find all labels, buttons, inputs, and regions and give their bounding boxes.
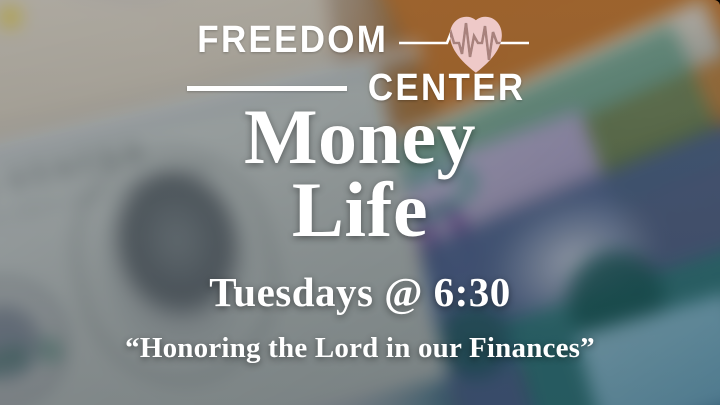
meeting-time-subtitle: Tuesdays @ 6:30 <box>0 272 720 313</box>
tagline-quote: “Honoring the Lord in our Finances” <box>0 334 720 363</box>
title-line-2: Life <box>0 173 720 248</box>
page-title: Money Life <box>0 100 720 248</box>
promo-graphic-card: 20 UNITED STATES LEGAL TENDER FOR ALL DE… <box>0 0 720 405</box>
ekg-heartbeat-line-icon <box>399 12 531 70</box>
logo-top-row: FREEDOM <box>0 14 720 66</box>
heart-icon-shape <box>450 17 502 73</box>
title-line-1: Money <box>0 100 720 175</box>
logo-rule-bar <box>187 86 347 91</box>
logo-wordmark-freedom: FREEDOM <box>198 21 389 59</box>
graphic-content: FREEDOM <box>0 0 720 405</box>
